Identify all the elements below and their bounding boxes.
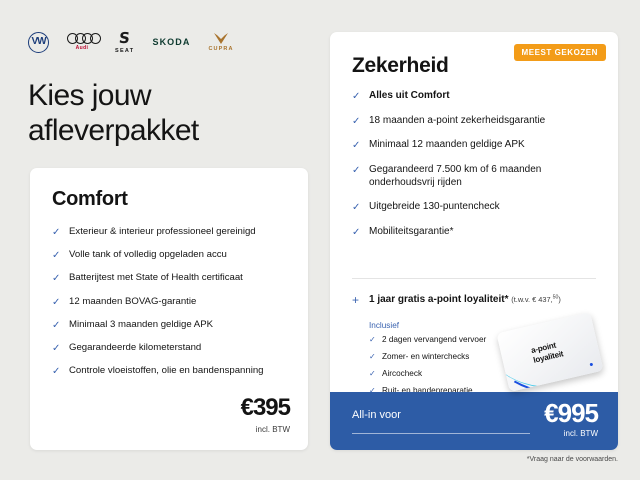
check-icon: ✓ xyxy=(52,366,60,379)
included-label: Inclusief xyxy=(369,321,399,330)
check-icon: ✓ xyxy=(352,116,360,129)
check-icon: ✓ xyxy=(352,202,360,215)
loyalty-value-note: (t.w.v. € 437,50) xyxy=(511,295,561,304)
comfort-vat-note: incl. BTW xyxy=(256,425,290,434)
section-divider xyxy=(352,278,596,279)
package-card-comfort[interactable]: Comfort ✓Exterieur & interieur professio… xyxy=(30,168,308,450)
cupra-logo-text: CUPRA xyxy=(208,46,233,52)
check-icon: ✓ xyxy=(52,227,60,240)
list-item: ✓Alles uit Comfort xyxy=(352,90,602,103)
volkswagen-logo-icon: VW xyxy=(28,32,49,53)
seat-logo-mark: S xyxy=(119,31,131,46)
loyalty-title: 1 jaar gratis a-point loyaliteit* xyxy=(369,294,508,305)
list-item: ✓12 maanden BOVAG-garantie xyxy=(52,296,292,308)
check-icon: ✓ xyxy=(52,273,60,286)
plus-icon: + xyxy=(352,294,359,306)
comfort-feature-list: ✓Exterieur & interieur professioneel ger… xyxy=(52,226,292,388)
check-icon: ✓ xyxy=(352,140,360,153)
zekerheid-price: €995 xyxy=(544,400,598,426)
loyalty-offer-row: + 1 jaar gratis a-point loyaliteit* (t.w… xyxy=(352,294,604,305)
list-item: ✓Mobiliteitsgarantie* xyxy=(352,226,602,239)
zekerheid-vat-note: incl. BTW xyxy=(564,429,598,438)
list-item: ✓Controle vloeistoffen, olie en bandensp… xyxy=(52,365,292,377)
zekerheid-feature-list: ✓Alles uit Comfort ✓18 maanden a-point z… xyxy=(352,90,602,251)
status-badge-most-chosen: MEEST GEKOZEN xyxy=(514,44,607,61)
check-icon: ✓ xyxy=(369,335,376,345)
check-icon: ✓ xyxy=(369,352,376,362)
skoda-logo-icon: SKODA xyxy=(152,37,190,47)
check-icon: ✓ xyxy=(52,250,60,263)
list-item: ✓Exterieur & interieur professioneel ger… xyxy=(52,226,292,238)
volkswagen-logo-text: VW xyxy=(31,37,45,47)
seat-logo-icon: S SEAT xyxy=(115,31,134,54)
check-icon: ✓ xyxy=(352,227,360,240)
card-dot xyxy=(590,363,594,367)
page-title: Kies jouw afleverpakket xyxy=(28,78,328,148)
list-item: ✓Minimaal 3 maanden geldige APK xyxy=(52,319,292,331)
check-icon: ✓ xyxy=(369,369,376,379)
check-icon: ✓ xyxy=(52,297,60,310)
cupra-logo-icon: CUPRA xyxy=(208,32,233,52)
audi-logo-icon: Audi xyxy=(67,33,97,51)
skoda-logo-text: SKODA xyxy=(152,37,190,47)
brand-logo-strip: VW Audi S SEAT SKODA CUPRA xyxy=(28,28,234,56)
zekerheid-title: Zekerheid xyxy=(352,54,449,78)
check-icon: ✓ xyxy=(52,320,60,333)
zekerheid-price-footer: All-in voor €995 incl. BTW xyxy=(330,392,618,450)
footer-rule xyxy=(352,433,530,434)
list-item: ✓Gegarandeerde kilometerstand xyxy=(52,342,292,354)
allin-label: All-in voor xyxy=(352,409,401,421)
delivery-package-selector: VW Audi S SEAT SKODA CUPRA Kies jouw afl… xyxy=(0,0,640,480)
comfort-title: Comfort xyxy=(52,188,128,211)
package-card-zekerheid[interactable]: MEEST GEKOZEN Zekerheid ✓Alles uit Comfo… xyxy=(330,32,618,450)
comfort-price: €395 xyxy=(241,396,290,420)
check-icon: ✓ xyxy=(352,165,360,178)
seat-logo-text: SEAT xyxy=(115,48,134,54)
list-item: ✓Batterijtest met State of Health certif… xyxy=(52,272,292,284)
cupra-triangle-icon xyxy=(213,32,229,45)
check-icon: ✓ xyxy=(52,343,60,356)
list-item: ✓Volle tank of volledig opgeladen accu xyxy=(52,249,292,261)
list-item: ✓18 maanden a-point zekerheidsgarantie xyxy=(352,115,602,128)
footnote-terms: *Vraag naar de voorwaarden. xyxy=(527,456,618,463)
audi-logo-text: Audi xyxy=(76,45,89,51)
list-item: ✓Minimaal 12 maanden geldige APK xyxy=(352,139,602,152)
check-icon: ✓ xyxy=(352,91,360,104)
list-item: ✓Gegarandeerd 7.500 km of 6 maanden onde… xyxy=(352,164,602,189)
list-item: ✓Uitgebreide 130-puntencheck xyxy=(352,201,602,214)
